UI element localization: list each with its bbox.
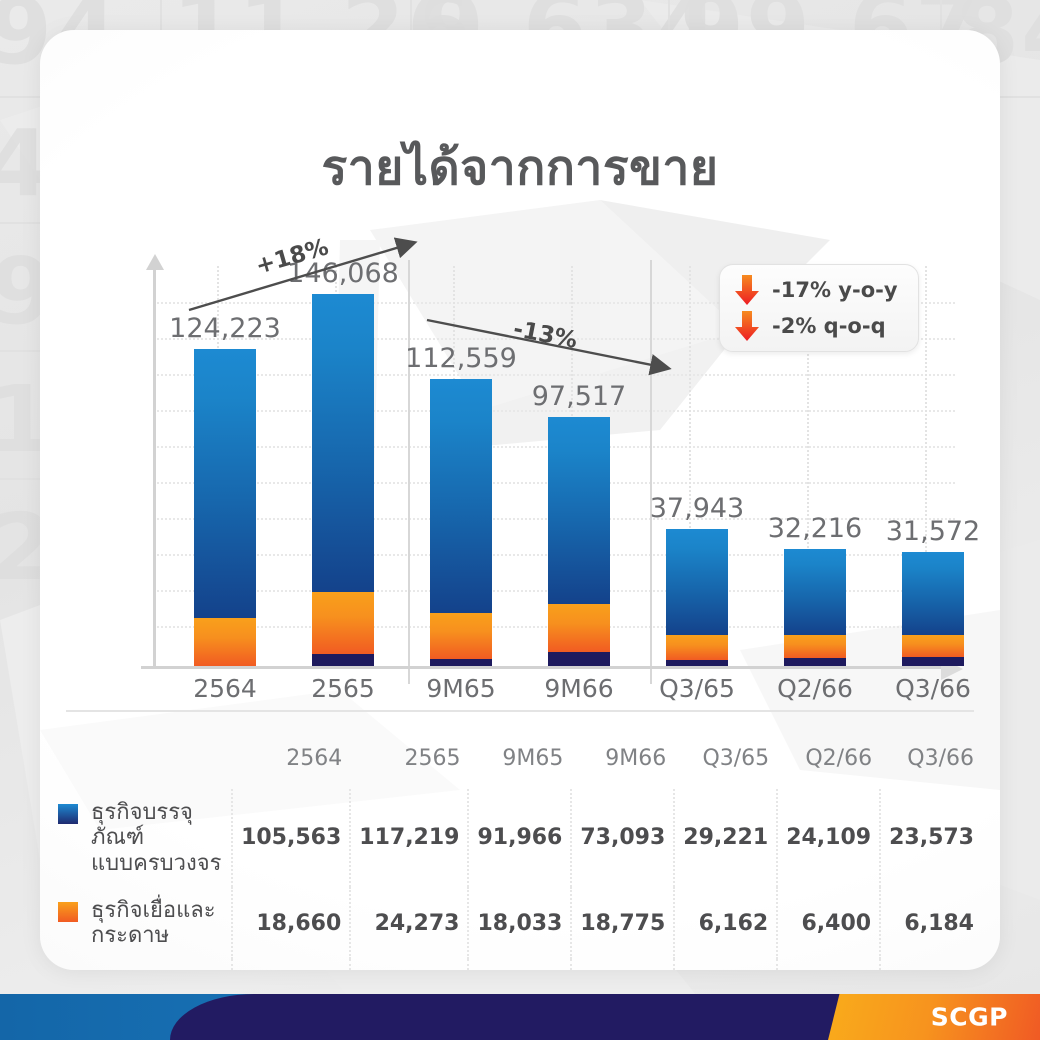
bar-segment-recycle bbox=[784, 658, 846, 666]
y-axis-arrow-icon bbox=[146, 254, 164, 270]
table-row: ธุรกิจรีไซเคิล - 4,576 2,560 5,649 2,560… bbox=[58, 959, 982, 970]
cell-pulp-Q3-65: 6,162 bbox=[674, 887, 777, 960]
table-header-2564: 2564 bbox=[232, 746, 350, 789]
table-header-2565: 2565 bbox=[350, 746, 468, 789]
page-title: รายได้จากการขาย bbox=[40, 130, 1000, 206]
bar-segment-pulp-paper bbox=[194, 618, 256, 666]
x-tick-Q2-66: Q2/66 bbox=[767, 674, 863, 703]
x-axis bbox=[141, 666, 941, 669]
bar-chart: 124,223 146,068 112,559 97,517 3 bbox=[135, 260, 985, 680]
table-header-Q2-66: Q2/66 bbox=[777, 746, 880, 789]
cell-pulp-9M65: 18,033 bbox=[468, 887, 571, 960]
bar-2564[interactable]: 124,223 bbox=[194, 349, 256, 666]
cell-packaging-Q2-66: 24,109 bbox=[777, 789, 880, 887]
cell-pulp-Q2-66: 6,400 bbox=[777, 887, 880, 960]
bar-segment-packaging bbox=[548, 417, 610, 604]
bar-segment-recycle bbox=[902, 657, 964, 666]
growth-annotation-9m: -13% bbox=[417, 308, 707, 398]
badge-label-yoy: -17% y-o-y bbox=[772, 278, 898, 302]
legend-label-packaging-line1: ธุรกิจบรรจุภัณฑ์ bbox=[91, 800, 193, 850]
x-tick-Q3-65: Q3/65 bbox=[649, 674, 745, 703]
bar-9M65[interactable]: 112,559 bbox=[430, 379, 492, 666]
bar-segment-packaging bbox=[902, 552, 964, 635]
down-arrow-icon bbox=[734, 310, 760, 342]
scgp-logo: SCGP bbox=[931, 1003, 1008, 1032]
table-header-9M66: 9M66 bbox=[571, 746, 674, 789]
bar-segment-pulp-paper bbox=[666, 635, 728, 660]
cell-packaging-2564: 105,563 bbox=[232, 789, 350, 887]
legend-item-pulp-paper: ธุรกิจเยื่อและกระดาษ bbox=[58, 887, 232, 960]
bar-segment-recycle bbox=[666, 660, 728, 666]
bar-segment-recycle bbox=[430, 659, 492, 666]
bar-segment-pulp-paper bbox=[548, 604, 610, 652]
footer-bar: SCGP bbox=[0, 994, 1040, 1040]
legend-swatch-pulp-paper bbox=[58, 902, 78, 922]
bar-segment-pulp-paper bbox=[784, 635, 846, 658]
cell-recycle-2565: 4,576 bbox=[350, 959, 468, 970]
cell-recycle-9M66: 5,649 bbox=[571, 959, 674, 970]
bar-segment-pulp-paper bbox=[312, 592, 374, 654]
bar-segment-recycle bbox=[548, 652, 610, 666]
data-table-section: 2564 2565 9M65 9M66 Q3/65 Q2/66 Q3/66 bbox=[58, 710, 982, 970]
cell-recycle-Q3-66: 1,815 bbox=[880, 959, 982, 970]
down-arrow-icon bbox=[417, 308, 707, 398]
cell-recycle-Q2-66: 1,707 bbox=[777, 959, 880, 970]
cell-recycle-Q3-65: 2,560 bbox=[674, 959, 777, 970]
bar-segment-packaging bbox=[194, 349, 256, 618]
cell-pulp-Q3-66: 6,184 bbox=[880, 887, 982, 960]
table-row: ธุรกิจบรรจุภัณฑ์ แบบครบวงจร 105,563 117,… bbox=[58, 789, 982, 887]
cell-packaging-Q3-65: 29,221 bbox=[674, 789, 777, 887]
bar-segment-pulp-paper bbox=[902, 635, 964, 657]
cell-packaging-2565: 117,219 bbox=[350, 789, 468, 887]
cell-packaging-9M66: 73,093 bbox=[571, 789, 674, 887]
cell-packaging-9M65: 91,966 bbox=[468, 789, 571, 887]
legend-label-pulp-paper: ธุรกิจเยื่อและกระดาษ bbox=[91, 898, 227, 949]
x-tick-Q3-66: Q3/66 bbox=[885, 674, 981, 703]
group-separator bbox=[408, 260, 410, 684]
y-axis bbox=[153, 266, 156, 668]
bar-segment-packaging bbox=[784, 549, 846, 635]
table-header-Q3-66: Q3/66 bbox=[880, 746, 982, 789]
table-row: ธุรกิจเยื่อและกระดาษ 18,660 24,273 18,03… bbox=[58, 887, 982, 960]
cell-pulp-9M66: 18,775 bbox=[571, 887, 674, 960]
table-divider bbox=[66, 710, 974, 712]
badge-label-qoq: -2% q-o-q bbox=[772, 314, 886, 338]
legend-label-packaging-line2: แบบครบวงจร bbox=[91, 851, 221, 876]
bar-Q3-66[interactable]: 31,572 bbox=[902, 552, 964, 666]
x-tick-2565: 2565 bbox=[295, 674, 391, 703]
x-tick-2564: 2564 bbox=[177, 674, 273, 703]
bar-2565[interactable]: 146,068 bbox=[312, 294, 374, 666]
down-arrow-icon bbox=[734, 274, 760, 306]
bar-segment-recycle bbox=[312, 654, 374, 666]
table-header-Q3-65: Q3/65 bbox=[674, 746, 777, 789]
legend-item-packaging: ธุรกิจบรรจุภัณฑ์ แบบครบวงจร bbox=[58, 789, 232, 887]
table-header-9M65: 9M65 bbox=[468, 746, 571, 789]
bar-Q2-66[interactable]: 32,216 bbox=[784, 549, 846, 666]
legend-item-recycle: ธุรกิจรีไซเคิล bbox=[58, 959, 232, 970]
status-badge: -17% y-o-y -2% q-o-q bbox=[719, 264, 919, 352]
growth-annotation-year: +18% bbox=[175, 230, 445, 320]
badge-row-yoy: -17% y-o-y bbox=[734, 274, 918, 306]
infographic-card: รายได้จากการขาย 124,223 bbox=[40, 30, 1000, 970]
bar-segment-packaging bbox=[666, 529, 728, 635]
badge-row-qoq: -2% q-o-q bbox=[734, 310, 918, 342]
cell-pulp-2564: 18,660 bbox=[232, 887, 350, 960]
bar-total-label: 32,216 bbox=[768, 513, 862, 544]
x-tick-9M65: 9M65 bbox=[413, 674, 509, 703]
bar-segment-packaging bbox=[430, 379, 492, 613]
cell-packaging-Q3-66: 23,573 bbox=[880, 789, 982, 887]
data-table: 2564 2565 9M65 9M66 Q3/65 Q2/66 Q3/66 bbox=[58, 746, 982, 970]
bar-segment-packaging bbox=[312, 294, 374, 592]
bar-total-label: 37,943 bbox=[650, 493, 744, 524]
bar-Q3-65[interactable]: 37,943 bbox=[666, 529, 728, 666]
bar-total-label: 31,572 bbox=[886, 516, 980, 547]
bar-segment-pulp-paper bbox=[430, 613, 492, 659]
cell-recycle-2564: - bbox=[232, 959, 350, 970]
table-header-blank bbox=[58, 746, 232, 789]
table-header-row: 2564 2565 9M65 9M66 Q3/65 Q2/66 Q3/66 bbox=[58, 746, 982, 789]
bar-9M66[interactable]: 97,517 bbox=[548, 417, 610, 666]
cell-recycle-9M65: 2,560 bbox=[468, 959, 571, 970]
cell-pulp-2565: 24,273 bbox=[350, 887, 468, 960]
x-tick-9M66: 9M66 bbox=[531, 674, 627, 703]
legend-swatch-packaging bbox=[58, 804, 78, 824]
